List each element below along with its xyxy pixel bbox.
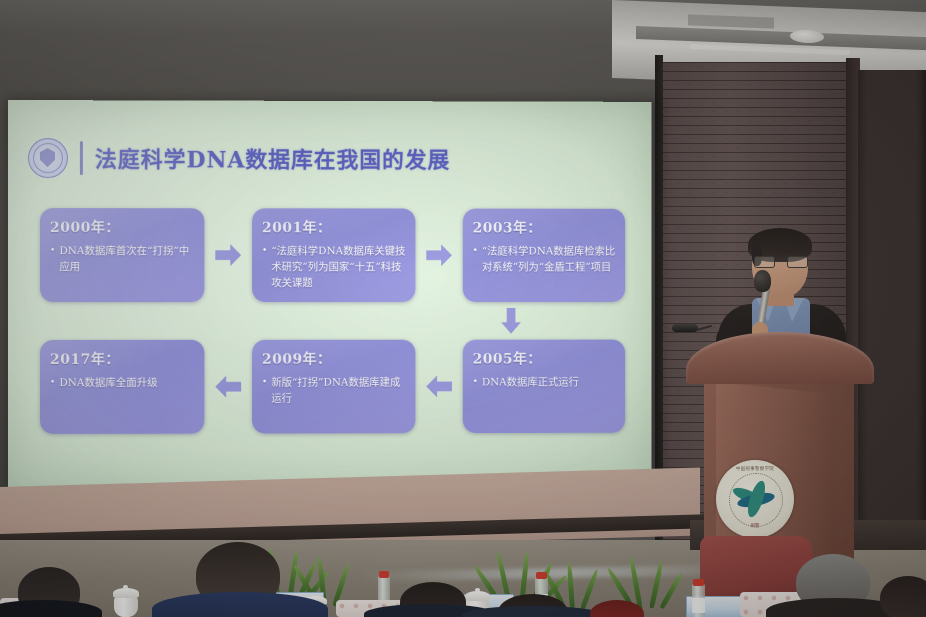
flow-box-year: 2000年： — [50, 217, 195, 237]
arrow-down-icon — [501, 308, 521, 334]
podium-mic-arm — [696, 325, 712, 331]
flow-box-body: • DNA数据库首次在“打拐”中应用 — [50, 244, 195, 276]
bullet-icon: • — [473, 375, 478, 391]
podium-mic-body — [672, 324, 698, 332]
microphone-icon — [754, 270, 771, 292]
bullet-icon: • — [473, 244, 478, 275]
tea-cup-lid — [113, 588, 139, 598]
flow-box-year: 2017年： — [50, 349, 195, 369]
arrow-left-icon — [215, 376, 241, 398]
flow-box-text: DNA数据库首次在“打拐”中应用 — [59, 244, 195, 276]
podium-logo-top-text: 中国刑事警察学院 — [728, 466, 782, 472]
audience-head — [880, 576, 926, 617]
arrow-down-cell — [491, 304, 530, 338]
arrow-cell — [415, 340, 462, 433]
institute-emblem-icon — [28, 138, 68, 178]
flow-box-text: “法庭科学DNA数据库检索比对系统”列为“金盾工程”项目 — [482, 244, 616, 275]
bottle-cap — [379, 571, 389, 578]
podium-desktop — [686, 332, 874, 384]
podium-institute-logo-icon: 中国刑事警察学院 刑警 — [716, 460, 794, 538]
flow-box-text: “法庭科学DNA数据库关键技术研究”列为国家“十五”科技攻关课题 — [271, 244, 406, 291]
flow-box-body: • “法庭科学DNA数据库关键技术研究”列为国家“十五”科技攻关课题 — [262, 244, 407, 291]
bullet-icon: • — [50, 244, 55, 275]
flow-box-year: 2003年： — [473, 218, 617, 238]
slide-flow-diagram: 2000年： • DNA数据库首次在“打拐”中应用 2001年： • “法庭科学… — [40, 208, 630, 434]
bullet-icon: • — [262, 376, 267, 407]
tea-cup-knob — [123, 585, 128, 589]
flow-row-top: 2000年： • DNA数据库首次在“打拐”中应用 2001年： • “法庭科学… — [40, 208, 630, 302]
tea-cup — [114, 595, 138, 617]
slide-title-row: 法庭科学DNA数据库在我国的发展 — [28, 138, 450, 179]
bottle-cap — [536, 572, 547, 579]
title-divider — [80, 141, 83, 175]
flow-box-body: • 新版“打拐”DNA数据库建成运行 — [262, 376, 407, 408]
arrow-left-icon — [426, 375, 452, 397]
presentation-photo-scene: EXIT 法庭科学DNA数据库在我国的发展 2000年： • DNA数据库首次在… — [0, 0, 926, 617]
audience-shoulders — [462, 606, 604, 617]
flow-box-year: 2005年： — [473, 349, 617, 369]
podium-logo-bottom-text: 刑警 — [738, 523, 772, 529]
bottle-label — [692, 598, 705, 613]
flow-row-bottom: 2017年： • DNA数据库全面升级 2009年： • 新版“打拐”DNA数据… — [40, 340, 630, 434]
flow-box-text: 新版“打拐”DNA数据库建成运行 — [271, 376, 406, 408]
podium-microphone — [672, 322, 710, 332]
tea-cup-lid — [465, 591, 490, 601]
flow-box-2003: 2003年： • “法庭科学DNA数据库检索比对系统”列为“金盾工程”项目 — [463, 209, 625, 302]
flow-box-year: 2009年： — [262, 349, 407, 369]
arrow-right-icon — [426, 244, 452, 266]
flow-box-body: • DNA数据库正式运行 — [473, 375, 617, 391]
flow-box-text: DNA数据库正式运行 — [482, 375, 616, 391]
flow-box-2017: 2017年： • DNA数据库全面升级 — [40, 340, 204, 434]
tea-cup-knob — [475, 588, 480, 592]
glasses-lens-left — [754, 256, 775, 268]
arrow-cell — [415, 209, 462, 302]
arrow-cell — [204, 340, 252, 434]
arrow-right-icon — [215, 244, 241, 266]
flow-box-year: 2001年： — [262, 217, 407, 237]
flow-box-body: • “法庭科学DNA数据库检索比对系统”列为“金盾工程”项目 — [473, 244, 617, 275]
flow-box-2001: 2001年： • “法庭科学DNA数据库关键技术研究”列为国家“十五”科技攻关课… — [252, 208, 415, 302]
bullet-icon: • — [50, 376, 55, 392]
glasses-lens-right — [787, 256, 808, 268]
arrow-cell — [204, 208, 252, 302]
bottle-cap — [693, 579, 704, 586]
projection-screen: 法庭科学DNA数据库在我国的发展 2000年： • DNA数据库首次在“打拐”中… — [8, 100, 652, 494]
bullet-icon: • — [262, 244, 267, 291]
slide-title: 法庭科学DNA数据库在我国的发展 — [95, 142, 450, 175]
flow-box-2000: 2000年： • DNA数据库首次在“打拐”中应用 — [40, 208, 204, 302]
flow-box-2009: 2009年： • 新版“打拐”DNA数据库建成运行 — [252, 340, 415, 434]
speaker-glasses-icon — [754, 256, 808, 269]
flow-box-2005: 2005年： • DNA数据库正式运行 — [463, 340, 625, 433]
flow-box-text: DNA数据库全面升级 — [59, 376, 195, 392]
flow-box-body: • DNA数据库全面升级 — [50, 376, 195, 392]
glasses-bridge — [775, 261, 787, 262]
